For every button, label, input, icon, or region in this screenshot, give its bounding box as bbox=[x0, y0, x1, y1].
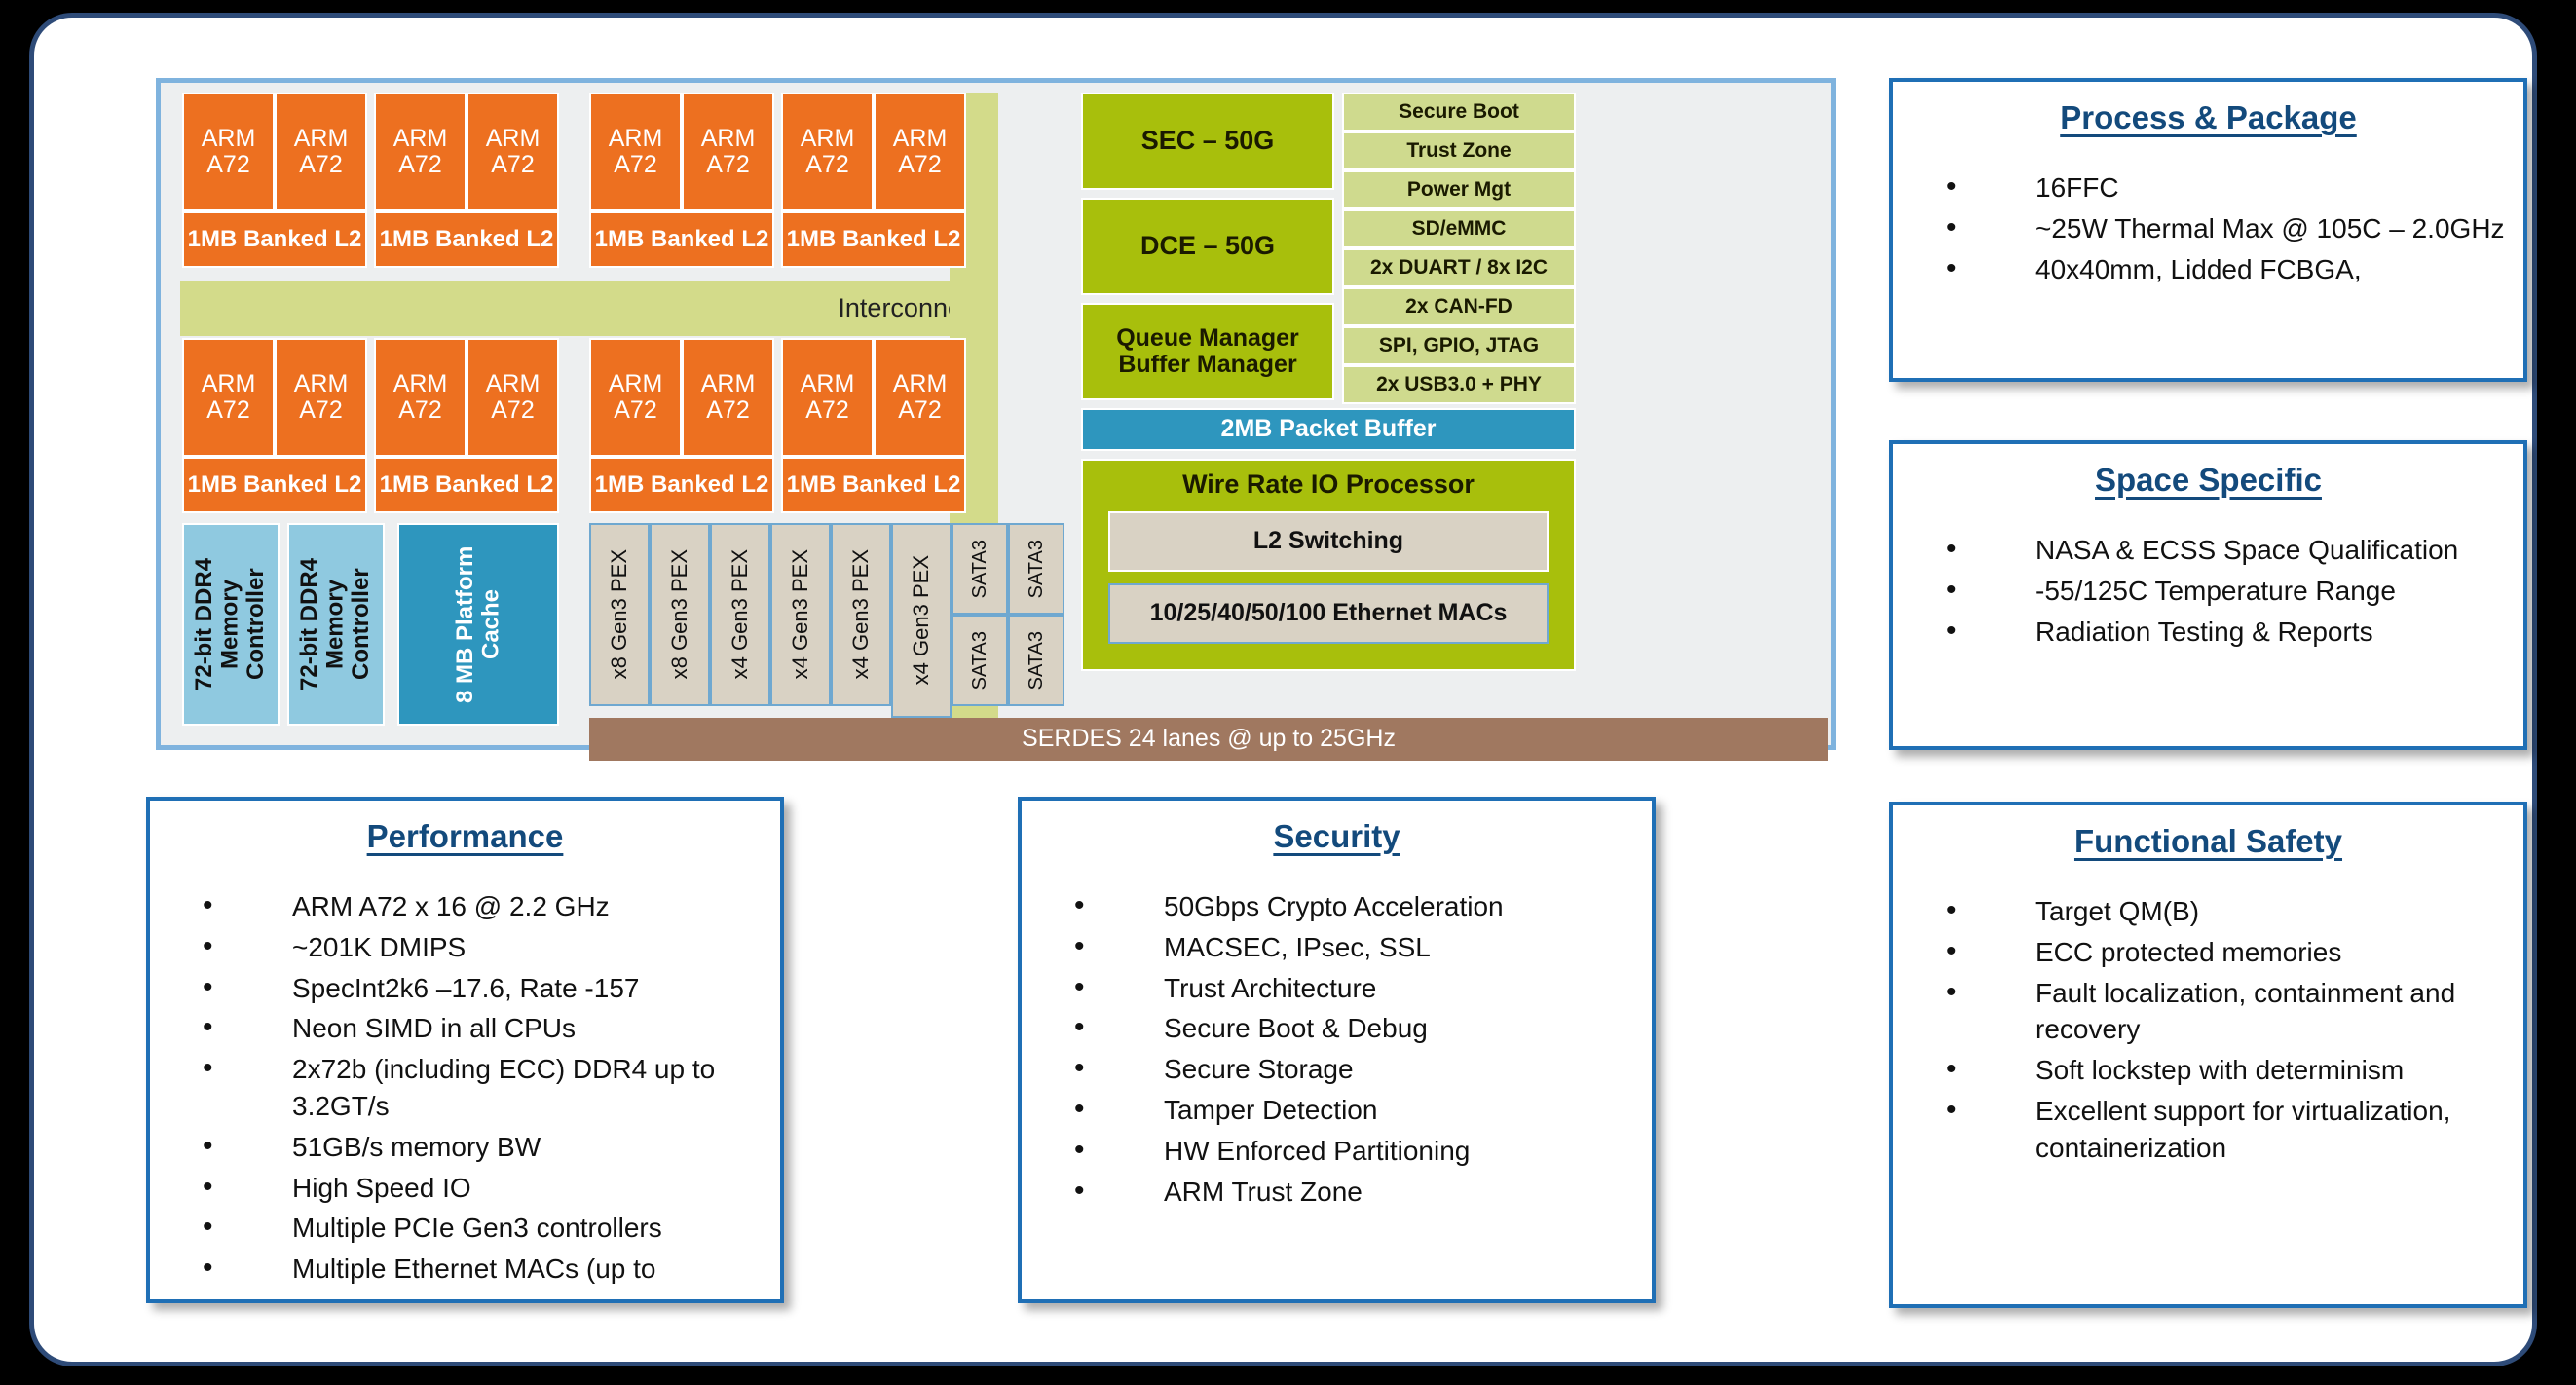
pex-label: x8 Gen3 PEX bbox=[608, 549, 631, 679]
core-block: ARM A72 bbox=[781, 93, 874, 211]
peripheral-label: Power Mgt bbox=[1407, 178, 1511, 201]
buffer-manager-label: Buffer Manager bbox=[1118, 352, 1296, 379]
core-label: ARM A72 bbox=[468, 371, 557, 425]
l2-cache-block: 1MB Banked L2 bbox=[182, 211, 367, 268]
panel-list: Target QM(B) ECC protected memories Faul… bbox=[1893, 893, 2523, 1167]
l2-cache-block: 1MB Banked L2 bbox=[781, 211, 966, 268]
list-item: 40x40mm, Lidded FCBGA, bbox=[1938, 251, 2506, 288]
list-item: Fault localization, containment and reco… bbox=[1938, 975, 2506, 1049]
serdes-bar: SERDES 24 lanes @ up to 25GHz bbox=[589, 718, 1828, 761]
list-item: 51GB/s memory BW bbox=[195, 1129, 763, 1166]
list-item: Secure Boot & Debug bbox=[1066, 1010, 1634, 1047]
core-label: ARM A72 bbox=[277, 371, 365, 425]
ethernet-macs-block: 10/25/40/50/100 Ethernet MACs bbox=[1108, 583, 1549, 644]
functional-safety-panel: Functional Safety Target QM(B) ECC prote… bbox=[1889, 802, 2527, 1308]
sec-label: SEC – 50G bbox=[1141, 127, 1275, 156]
panel-title: Security bbox=[1022, 801, 1652, 855]
l2-label: 1MB Banked L2 bbox=[188, 227, 362, 252]
peripheral-block: Power Mgt bbox=[1342, 170, 1576, 209]
pex-label: x4 Gen3 PEX bbox=[728, 549, 752, 679]
pex-lane-block: x8 Gen3 PEX bbox=[589, 523, 650, 706]
peripheral-block: Secure Boot bbox=[1342, 93, 1576, 131]
soc-die-diagram: Interconnect ARM A72 ARM A72 ARM A72 ARM… bbox=[156, 78, 1836, 750]
l2-label: 1MB Banked L2 bbox=[787, 227, 961, 252]
panel-list: 16FFC ~25W Thermal Max @ 105C – 2.0GHz 4… bbox=[1893, 169, 2523, 287]
core-label: ARM A72 bbox=[684, 371, 772, 425]
list-item: ~25W Thermal Max @ 105C – 2.0GHz bbox=[1938, 210, 2506, 247]
core-block: ARM A72 bbox=[874, 93, 966, 211]
memory-controller-label: 72-bit DDR4 Memory Controller bbox=[192, 525, 269, 724]
core-label: ARM A72 bbox=[591, 371, 680, 425]
peripheral-block: Trust Zone bbox=[1342, 131, 1576, 170]
list-item: NASA & ECSS Space Qualification bbox=[1938, 532, 2506, 569]
packet-buffer-block: 2MB Packet Buffer bbox=[1081, 408, 1576, 451]
list-item: Target QM(B) bbox=[1938, 893, 2506, 930]
list-item: ARM A72 x 16 @ 2.2 GHz bbox=[195, 888, 763, 925]
sec-accelerator-block: SEC – 50G bbox=[1081, 93, 1334, 190]
l2-label: 1MB Banked L2 bbox=[380, 472, 554, 498]
l2-label: 1MB Banked L2 bbox=[595, 472, 769, 498]
peripheral-block: 2x USB3.0 + PHY bbox=[1342, 365, 1576, 404]
core-block: ARM A72 bbox=[682, 338, 774, 457]
core-label: ARM A72 bbox=[184, 126, 273, 179]
panel-list: ARM A72 x 16 @ 2.2 GHz ~201K DMIPS SpecI… bbox=[150, 888, 780, 1288]
list-item: 16FFC bbox=[1938, 169, 2506, 206]
wire-rate-io-processor-block: Wire Rate IO Processor L2 Switching 10/2… bbox=[1081, 459, 1576, 671]
queue-buffer-manager-block: Queue Manager Buffer Manager bbox=[1081, 303, 1334, 400]
sata-label: SATA3 bbox=[1026, 540, 1047, 598]
pex-lane-block: x4 Gen3 PEX bbox=[710, 523, 770, 706]
sata-label: SATA3 bbox=[969, 540, 990, 598]
pex-label: x4 Gen3 PEX bbox=[910, 555, 933, 685]
panel-list: NASA & ECSS Space Qualification -55/125C… bbox=[1893, 532, 2523, 650]
memory-controller-label: 72-bit DDR4 Memory Controller bbox=[297, 525, 374, 724]
slide-card: Interconnect ARM A72 ARM A72 ARM A72 ARM… bbox=[29, 13, 2537, 1366]
core-label: ARM A72 bbox=[876, 371, 964, 425]
list-item: High Speed IO bbox=[195, 1170, 763, 1207]
sata-port-block: SATA3 bbox=[1008, 615, 1064, 706]
list-item: Excellent support for virtualization, co… bbox=[1938, 1093, 2506, 1167]
list-item: 50Gbps Crypto Acceleration bbox=[1066, 888, 1634, 925]
platform-cache-block: 8 MB Platform Cache bbox=[397, 523, 559, 726]
core-block: ARM A72 bbox=[467, 93, 559, 211]
list-item: Secure Storage bbox=[1066, 1051, 1634, 1088]
performance-panel: Performance ARM A72 x 16 @ 2.2 GHz ~201K… bbox=[146, 797, 784, 1303]
core-block: ARM A72 bbox=[374, 338, 467, 457]
l2-cache-block: 1MB Banked L2 bbox=[589, 457, 774, 513]
l2-cache-block: 1MB Banked L2 bbox=[781, 457, 966, 513]
serdes-label: SERDES 24 lanes @ up to 25GHz bbox=[1022, 726, 1396, 753]
sata-port-block: SATA3 bbox=[1008, 523, 1064, 615]
sata-port-block: SATA3 bbox=[952, 523, 1008, 615]
list-item: ECC protected memories bbox=[1938, 934, 2506, 971]
core-block: ARM A72 bbox=[874, 338, 966, 457]
wire-rate-io-label: Wire Rate IO Processor bbox=[1182, 470, 1475, 500]
list-item: Trust Architecture bbox=[1066, 970, 1634, 1007]
panel-title: Performance bbox=[150, 801, 780, 855]
l2-label: 1MB Banked L2 bbox=[595, 227, 769, 252]
list-item: 2x72b (including ECC) DDR4 up to 3.2GT/s bbox=[195, 1051, 763, 1125]
panel-list: 50Gbps Crypto Acceleration MACSEC, IPsec… bbox=[1022, 888, 1652, 1210]
list-item: Multiple PCIe Gen3 controllers bbox=[195, 1210, 763, 1247]
sata-label: SATA3 bbox=[1026, 631, 1047, 690]
core-label: ARM A72 bbox=[684, 126, 772, 179]
core-block: ARM A72 bbox=[182, 93, 275, 211]
list-item: SpecInt2k6 –17.6, Rate -157 bbox=[195, 970, 763, 1007]
peripheral-label: 2x USB3.0 + PHY bbox=[1376, 373, 1542, 395]
pex-label: x8 Gen3 PEX bbox=[668, 549, 691, 679]
l2-label: 1MB Banked L2 bbox=[787, 472, 961, 498]
list-item: -55/125C Temperature Range bbox=[1938, 573, 2506, 610]
list-item: Tamper Detection bbox=[1066, 1092, 1634, 1129]
interconnect-right-fill bbox=[180, 281, 185, 336]
core-label: ARM A72 bbox=[277, 126, 365, 179]
panel-title: Space Specific bbox=[1893, 444, 2523, 499]
core-label: ARM A72 bbox=[468, 126, 557, 179]
queue-manager-label: Queue Manager bbox=[1116, 325, 1299, 353]
dce-accelerator-block: DCE – 50G bbox=[1081, 198, 1334, 295]
l2-cache-block: 1MB Banked L2 bbox=[182, 457, 367, 513]
panel-title: Process & Package bbox=[1893, 82, 2523, 136]
peripheral-label: Trust Zone bbox=[1406, 139, 1511, 162]
core-block: ARM A72 bbox=[589, 93, 682, 211]
list-item: Radiation Testing & Reports bbox=[1938, 614, 2506, 651]
pex-lane-block: x4 Gen3 PEX bbox=[831, 523, 891, 706]
l2-switching-label: L2 Switching bbox=[1253, 528, 1403, 555]
list-item: Soft lockstep with determinism bbox=[1938, 1052, 2506, 1089]
l2-label: 1MB Banked L2 bbox=[188, 472, 362, 498]
pex-label: x4 Gen3 PEX bbox=[849, 549, 873, 679]
core-label: ARM A72 bbox=[376, 371, 465, 425]
l2-cache-block: 1MB Banked L2 bbox=[374, 211, 559, 268]
core-block: ARM A72 bbox=[682, 93, 774, 211]
pex-label: x4 Gen3 PEX bbox=[789, 549, 812, 679]
pex-lane-block: x8 Gen3 PEX bbox=[650, 523, 710, 706]
memory-controller-block: 72-bit DDR4 Memory Controller bbox=[182, 523, 280, 726]
list-item: Multiple Ethernet MACs (up to bbox=[195, 1251, 763, 1288]
core-label: ARM A72 bbox=[783, 126, 872, 179]
peripheral-block: 2x CAN-FD bbox=[1342, 287, 1576, 326]
core-label: ARM A72 bbox=[876, 126, 964, 179]
panel-title: Functional Safety bbox=[1893, 805, 2523, 860]
packet-buffer-label: 2MB Packet Buffer bbox=[1221, 416, 1437, 443]
core-block: ARM A72 bbox=[275, 338, 367, 457]
core-block: ARM A72 bbox=[467, 338, 559, 457]
list-item: MACSEC, IPsec, SSL bbox=[1066, 929, 1634, 966]
core-label: ARM A72 bbox=[783, 371, 872, 425]
core-label: ARM A72 bbox=[184, 371, 273, 425]
l2-cache-block: 1MB Banked L2 bbox=[589, 211, 774, 268]
dce-label: DCE – 50G bbox=[1140, 232, 1275, 261]
sata-port-block: SATA3 bbox=[952, 615, 1008, 706]
peripheral-label: 2x DUART / 8x I2C bbox=[1370, 256, 1548, 279]
l2-cache-block: 1MB Banked L2 bbox=[374, 457, 559, 513]
core-block: ARM A72 bbox=[182, 338, 275, 457]
process-package-panel: Process & Package 16FFC ~25W Thermal Max… bbox=[1889, 78, 2527, 382]
core-label: ARM A72 bbox=[376, 126, 465, 179]
l2-switching-block: L2 Switching bbox=[1108, 511, 1549, 572]
peripheral-block: SD/eMMC bbox=[1342, 209, 1576, 248]
platform-cache-label: 8 MB Platform Cache bbox=[453, 525, 504, 724]
pex-lane-block: x4 Gen3 PEX bbox=[770, 523, 831, 706]
security-panel: Security 50Gbps Crypto Acceleration MACS… bbox=[1018, 797, 1656, 1303]
peripheral-label: Secure Boot bbox=[1399, 100, 1519, 123]
list-item: ~201K DMIPS bbox=[195, 929, 763, 966]
list-item: HW Enforced Partitioning bbox=[1066, 1133, 1634, 1170]
core-label: ARM A72 bbox=[591, 126, 680, 179]
core-block: ARM A72 bbox=[781, 338, 874, 457]
space-specific-panel: Space Specific NASA & ECSS Space Qualifi… bbox=[1889, 440, 2527, 750]
peripheral-label: SPI, GPIO, JTAG bbox=[1379, 334, 1539, 356]
memory-controller-block: 72-bit DDR4 Memory Controller bbox=[287, 523, 385, 726]
core-block: ARM A72 bbox=[374, 93, 467, 211]
list-item: ARM Trust Zone bbox=[1066, 1174, 1634, 1211]
list-item: Neon SIMD in all CPUs bbox=[195, 1010, 763, 1047]
ethernet-macs-label: 10/25/40/50/100 Ethernet MACs bbox=[1150, 600, 1508, 627]
pex-lane-block: x4 Gen3 PEX bbox=[891, 523, 952, 718]
peripheral-block: SPI, GPIO, JTAG bbox=[1342, 326, 1576, 365]
interconnect-bus: Interconnect bbox=[180, 281, 998, 336]
core-block: ARM A72 bbox=[589, 338, 682, 457]
peripheral-label: 2x CAN-FD bbox=[1405, 295, 1512, 318]
peripheral-block: 2x DUART / 8x I2C bbox=[1342, 248, 1576, 287]
sata-label: SATA3 bbox=[969, 631, 990, 690]
core-block: ARM A72 bbox=[275, 93, 367, 211]
l2-label: 1MB Banked L2 bbox=[380, 227, 554, 252]
peripheral-label: SD/eMMC bbox=[1412, 217, 1507, 240]
